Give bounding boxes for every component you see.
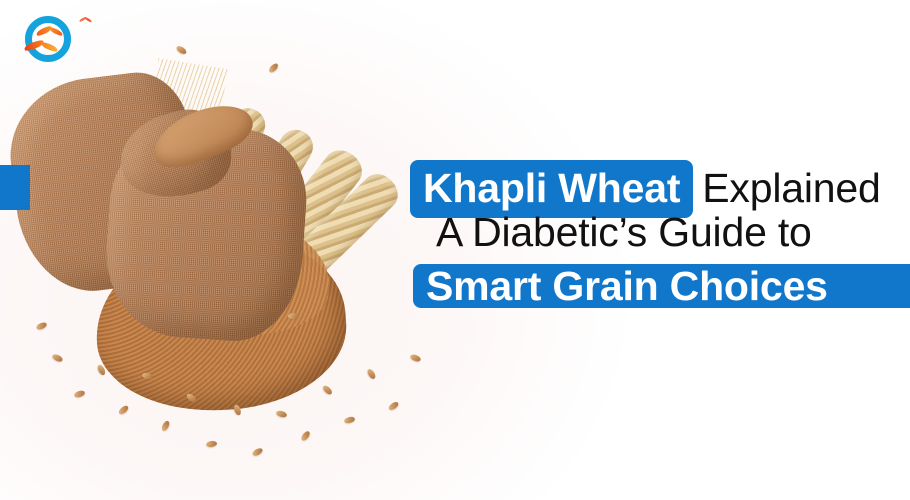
wheat-kernel [51,353,64,363]
wheat-kernel [387,400,399,411]
wheat-kernel [206,440,218,447]
wheat-kernel [251,447,264,458]
article-hero-banner: Khapli WheatExplained A Diabetic’s Guide… [0,0,910,500]
wheat-kernel [35,321,47,331]
wheat-kernel [73,389,85,398]
wheat-kernel [343,416,355,424]
logo-ring-icon [25,16,71,62]
wheat-kernel [160,420,170,433]
brand-logo[interactable] [22,10,84,68]
wheat-kernel [409,353,421,363]
headline-line-2: A Diabetic’s Guide to [436,209,812,255]
headline-highlight-smart-grain-choices: Smart Grain Choices [426,266,828,307]
wheat-kernel [366,368,377,381]
wheat-kernel [268,62,280,74]
wheat-kernel [321,384,333,396]
headline-plain-explained: Explained [702,165,880,211]
wheat-kernel [117,404,129,416]
wheat-kernel [275,410,287,419]
wheat-kernel [300,430,312,442]
